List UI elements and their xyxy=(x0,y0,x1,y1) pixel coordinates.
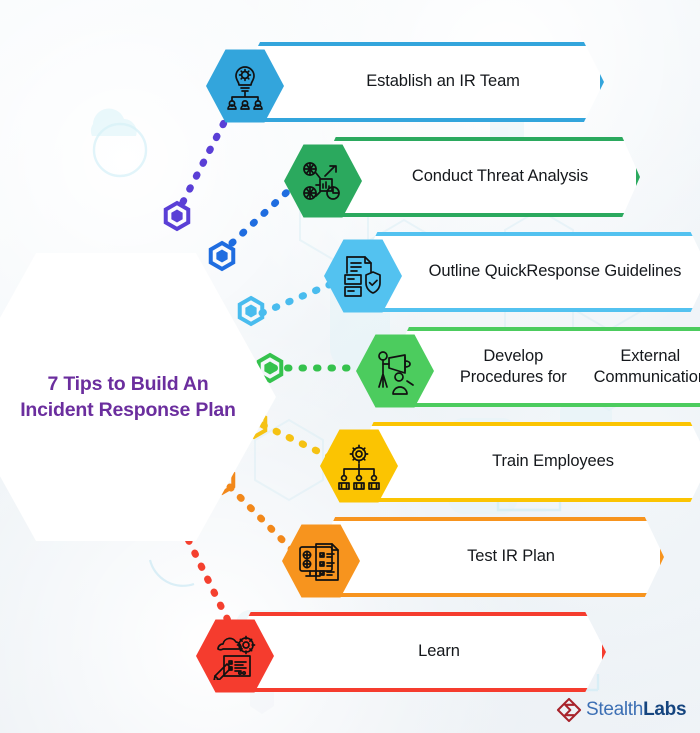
infographic-canvas: 7 Tips to Build An Incident Response Pla… xyxy=(0,0,700,733)
brand-name-part2: Labs xyxy=(643,699,686,720)
tip-pill[interactable] xyxy=(240,42,604,122)
tip-pill[interactable] xyxy=(318,137,640,217)
tip-pill[interactable] xyxy=(390,327,700,407)
center-hexagon xyxy=(0,247,276,547)
tip-pill[interactable] xyxy=(316,517,664,597)
tip-row-7[interactable]: Learn xyxy=(196,612,632,692)
tip-pill[interactable] xyxy=(358,232,700,312)
tip-row-2[interactable]: Conduct Threat Analysis xyxy=(284,137,666,217)
tip-row-5[interactable]: Train Employees xyxy=(320,422,700,502)
tip-row-1[interactable]: Establish an IR Team xyxy=(206,42,630,122)
tip-row-6[interactable]: Test IR Plan xyxy=(282,517,690,597)
stealthlabs-diamond-icon xyxy=(556,697,582,723)
brand-name: StealthLabs xyxy=(586,699,686,721)
tip-row-4[interactable]: Develop Procedures forExternal Communica… xyxy=(356,327,700,407)
tip-pill[interactable] xyxy=(354,422,700,502)
brand-name-part1: Stealth xyxy=(586,699,643,720)
tip-row-3[interactable]: Outline QuickResponse Guidelines xyxy=(324,232,700,312)
brand-logo[interactable]: StealthLabs xyxy=(556,697,686,723)
tip-pill[interactable] xyxy=(230,612,606,692)
